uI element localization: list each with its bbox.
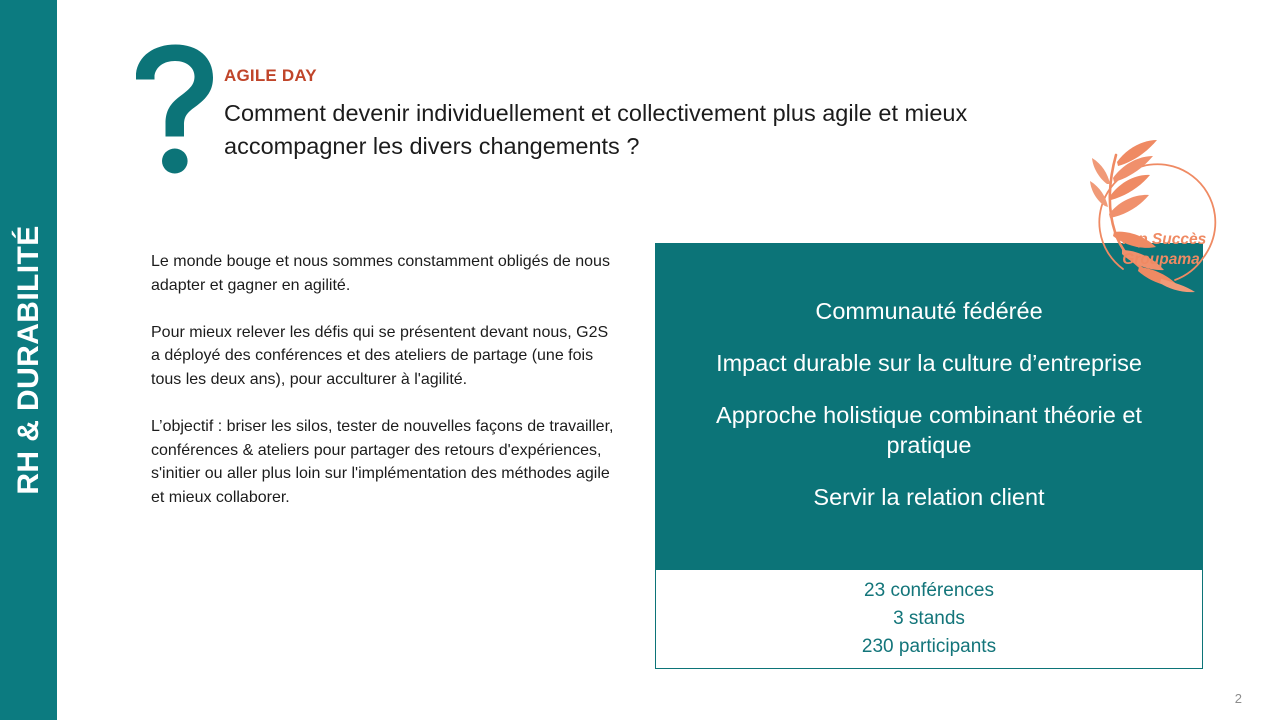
eyebrow-label: AGILE DAY	[224, 66, 317, 86]
highlight-item: Approche holistique combinant théorie et…	[679, 389, 1179, 471]
body-paragraph: L’objectif : briser les silos, tester de…	[151, 415, 621, 509]
page-number: 2	[1235, 691, 1242, 706]
question-mark-icon	[130, 42, 220, 177]
stat-item: 3 stands	[893, 605, 965, 633]
stats-box: 23 conférences 3 stands 230 participants	[655, 569, 1203, 669]
highlight-item: Servir la relation client	[679, 471, 1179, 523]
highlight-item: Impact durable sur la culture d’entrepri…	[679, 337, 1179, 389]
logo-line-1: Top Succès	[1120, 231, 1207, 248]
top-succes-groupama-logo: Top Succès Groupama	[1083, 134, 1235, 294]
stat-item: 23 conférences	[864, 577, 994, 605]
logo-line-2: Groupama	[1122, 251, 1200, 268]
body-paragraph: Le monde bouge et nous sommes constammen…	[151, 250, 621, 297]
sidebar: RH & DURABILITÉ	[0, 0, 57, 720]
page-title: Comment devenir individuellement et coll…	[224, 97, 1074, 163]
stat-item: 230 participants	[862, 633, 996, 661]
sidebar-section-label: RH & DURABILITÉ	[12, 225, 46, 494]
body-copy: Le monde bouge et nous sommes constammen…	[151, 250, 621, 510]
body-paragraph: Pour mieux relever les défis qui se prés…	[151, 321, 621, 392]
